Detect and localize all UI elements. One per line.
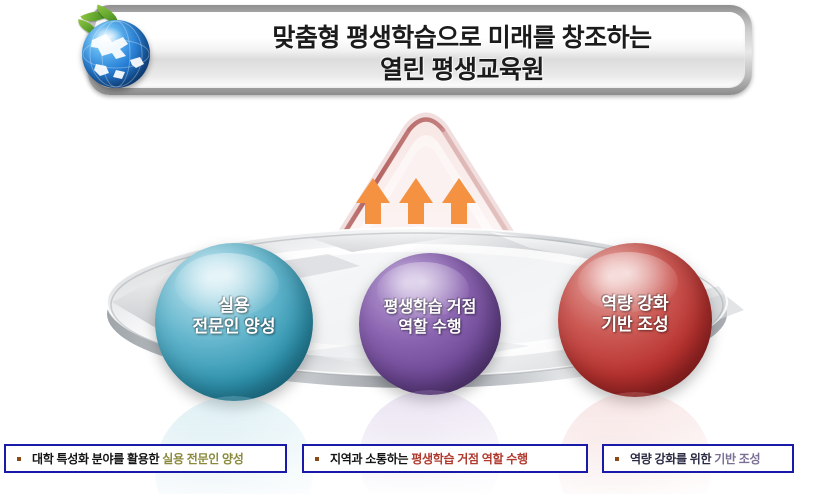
- sphere-practical-professional[interactable]: 실용 전문인 양성: [155, 243, 313, 401]
- sphere-capacity-foundation[interactable]: 역량 강화 기반 조성: [558, 243, 712, 397]
- slide-canvas: 맞춤형 평생학습으로 미래를 창조하는 열린 평생교육원: [0, 0, 833, 494]
- sphere-label: 평생학습 거점 역할 수행: [359, 298, 501, 338]
- header-banner: 맞춤형 평생학습으로 미래를 창조하는 열린 평생교육원: [88, 5, 752, 95]
- caption-lead-text: 지역과 소통하는: [330, 452, 411, 466]
- globe-with-leaves-icon: [62, 8, 166, 92]
- sphere-reflection: [558, 392, 712, 494]
- caption-box-practical: 대학 특성화 분야를 활용한 실용 전문인 양성: [4, 444, 287, 473]
- page-title: 맞춤형 평생학습으로 미래를 창조하는 열린 평생교육원: [198, 23, 726, 86]
- globe-sphere: [82, 20, 150, 88]
- sphere-label: 실용 전문인 양성: [155, 295, 313, 338]
- caption-highlight-text: 실용 전문인 양성: [162, 452, 243, 466]
- caption-highlight-text: 기반 조성: [714, 452, 760, 466]
- caption-lead-text: 역량 강화를 위한: [630, 452, 714, 466]
- sphere-label: 역량 강화 기반 조성: [558, 293, 712, 336]
- caption-box-hub: 지역과 소통하는 평생학습 거점 역할 수행: [302, 444, 588, 473]
- bullet-square-icon: [17, 457, 21, 461]
- caption-lead-text: 대학 특성화 분야를 활용한: [32, 452, 162, 466]
- globe-highlight: [94, 27, 124, 47]
- caption-highlight-text: 평생학습 거점 역할 수행: [411, 452, 528, 466]
- caption-box-foundation: 역량 강화를 위한 기반 조성: [602, 444, 794, 473]
- bullet-square-icon: [615, 457, 619, 461]
- bullet-square-icon: [315, 457, 319, 461]
- sphere-lifelong-learning-hub[interactable]: 평생학습 거점 역할 수행: [359, 253, 501, 395]
